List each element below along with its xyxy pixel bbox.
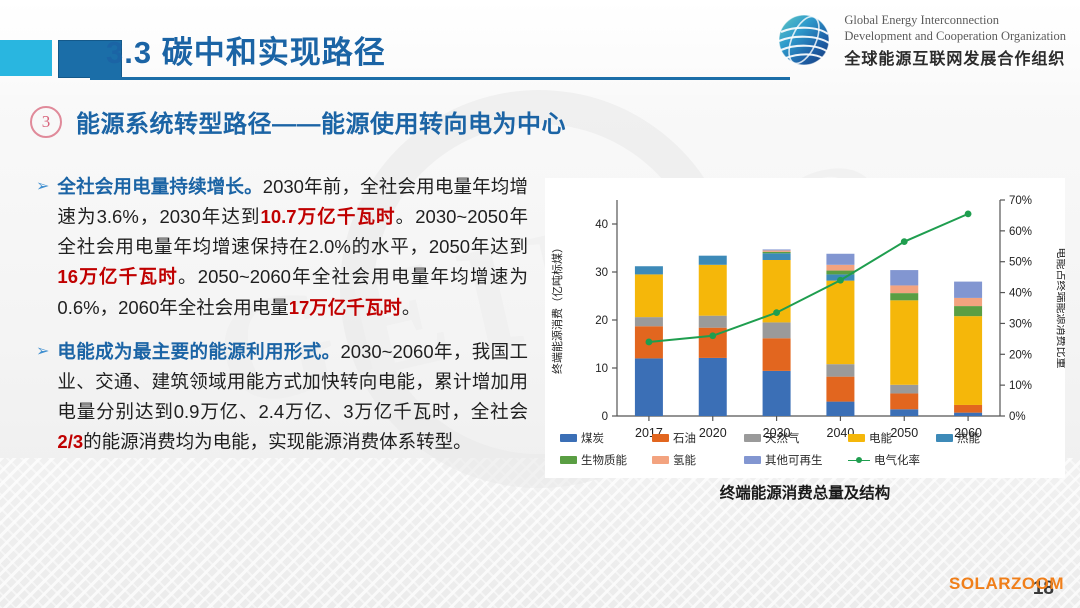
legend-item[interactable]: 石油 [652, 430, 744, 446]
legend-label: 电气化率 [874, 452, 920, 468]
legend-label: 天然气 [765, 430, 800, 446]
svg-text:60%: 60% [1009, 226, 1032, 238]
body-paragraph: ➢全社会用电量持续增长。2030年前，全社会用电量年均增速为3.6%，2030年… [36, 172, 528, 323]
chart-legend: 煤炭石油天然气电能热能生物质能氢能其他可再生电气化率 [560, 430, 1060, 474]
logo-text-block: Global Energy Interconnection Developmen… [844, 13, 1066, 69]
svg-text:40: 40 [595, 219, 608, 231]
svg-text:0: 0 [602, 411, 608, 423]
legend-item[interactable]: 生物质能 [560, 452, 652, 468]
paragraph-text: 电能成为最主要的能源利用形式。2030~2060年，我国工业、交通、建筑领域用能… [57, 337, 528, 458]
svg-text:0%: 0% [1009, 411, 1026, 423]
legend-line-marker-icon [848, 456, 870, 465]
legend-item[interactable]: 热能 [936, 430, 1032, 446]
legend-label: 氢能 [673, 452, 696, 468]
solarzoom-watermark: SOLARZOOM [949, 574, 1064, 594]
section-title: 能源系统转型路径——能源使用转向电为中心 [76, 104, 566, 139]
section-number-badge: 3 [30, 106, 62, 138]
svg-text:30: 30 [595, 267, 608, 279]
legend-label: 煤炭 [581, 430, 604, 446]
logo-chinese-line: 全球能源互联网发展合作组织 [844, 45, 1066, 69]
bullet-arrow-icon: ➢ [36, 172, 49, 323]
text-run: 10.7万亿千瓦时 [261, 206, 396, 227]
bullet-arrow-icon: ➢ [36, 337, 49, 458]
legend-swatch-icon [744, 456, 761, 464]
svg-text:50%: 50% [1009, 257, 1032, 269]
svg-text:20%: 20% [1009, 349, 1032, 361]
body-paragraph: ➢电能成为最主要的能源利用形式。2030~2060年，我国工业、交通、建筑领域用… [36, 337, 528, 458]
legend-item[interactable]: 天然气 [744, 430, 848, 446]
legend-item[interactable]: 煤炭 [560, 430, 652, 446]
body-text-block: ➢全社会用电量持续增长。2030年前，全社会用电量年均增速为3.6%，2030年… [36, 172, 528, 471]
svg-text:10%: 10% [1009, 380, 1032, 392]
legend-item[interactable]: 氢能 [652, 452, 744, 468]
legend-label: 热能 [957, 430, 980, 446]
legend-swatch-icon [848, 434, 865, 442]
slide-canvas: GEIDCO 3.3 碳中和实现路径 [0, 0, 1080, 608]
legend-swatch-icon [652, 434, 669, 442]
legend-label: 石油 [673, 430, 696, 446]
text-run: 电能成为最主要的能源利用形式。 [57, 341, 340, 362]
legend-swatch-icon [936, 434, 953, 442]
globe-logo-icon [773, 10, 835, 72]
legend-item[interactable]: 电气化率 [848, 452, 958, 468]
text-run: 的能源消费均为电能，实现能源消费体系转型。 [83, 431, 472, 452]
legend-label: 生物质能 [581, 452, 627, 468]
section-heading: 3 能源系统转型路径——能源使用转向电为中心 [30, 104, 566, 139]
legend-swatch-icon [652, 456, 669, 464]
organization-logo: Global Energy Interconnection Developmen… [773, 10, 1066, 72]
text-run: 全社会用电量持续增长。 [57, 176, 262, 197]
text-run: 16万亿千瓦时 [57, 266, 178, 287]
legend-swatch-icon [744, 434, 761, 442]
text-run: 。 [402, 297, 421, 318]
page-title: 3.3 碳中和实现路径 [106, 27, 386, 72]
paragraph-text: 全社会用电量持续增长。2030年前，全社会用电量年均增速为3.6%，2030年达… [57, 172, 528, 323]
svg-text:10: 10 [595, 363, 608, 375]
legend-swatch-icon [560, 434, 577, 442]
legend-swatch-icon [560, 456, 577, 464]
svg-text:电能占终端能源消费比重: 电能占终端能源消费比重 [1055, 248, 1065, 369]
text-run: 17万亿千瓦时 [289, 297, 402, 318]
legend-item[interactable]: 电能 [848, 430, 936, 446]
chart-caption: 终端能源消费总量及结构 [545, 481, 1065, 503]
svg-text:终端能源消费（亿吨标煤）: 终端能源消费（亿吨标煤） [550, 242, 564, 374]
legend-label: 其他可再生 [765, 452, 823, 468]
logo-english-line-1: Global Energy Interconnection [844, 13, 1066, 29]
svg-text:70%: 70% [1009, 195, 1032, 207]
legend-item[interactable]: 其他可再生 [744, 452, 848, 468]
svg-text:40%: 40% [1009, 288, 1032, 300]
logo-english-line-2: Development and Cooperation Organization [844, 29, 1066, 45]
svg-text:30%: 30% [1009, 318, 1032, 330]
header-underline [90, 77, 790, 80]
legend-label: 电能 [869, 430, 892, 446]
header-accent-square-cyan [0, 40, 52, 76]
text-run: 2/3 [57, 431, 83, 452]
svg-text:20: 20 [595, 315, 608, 327]
